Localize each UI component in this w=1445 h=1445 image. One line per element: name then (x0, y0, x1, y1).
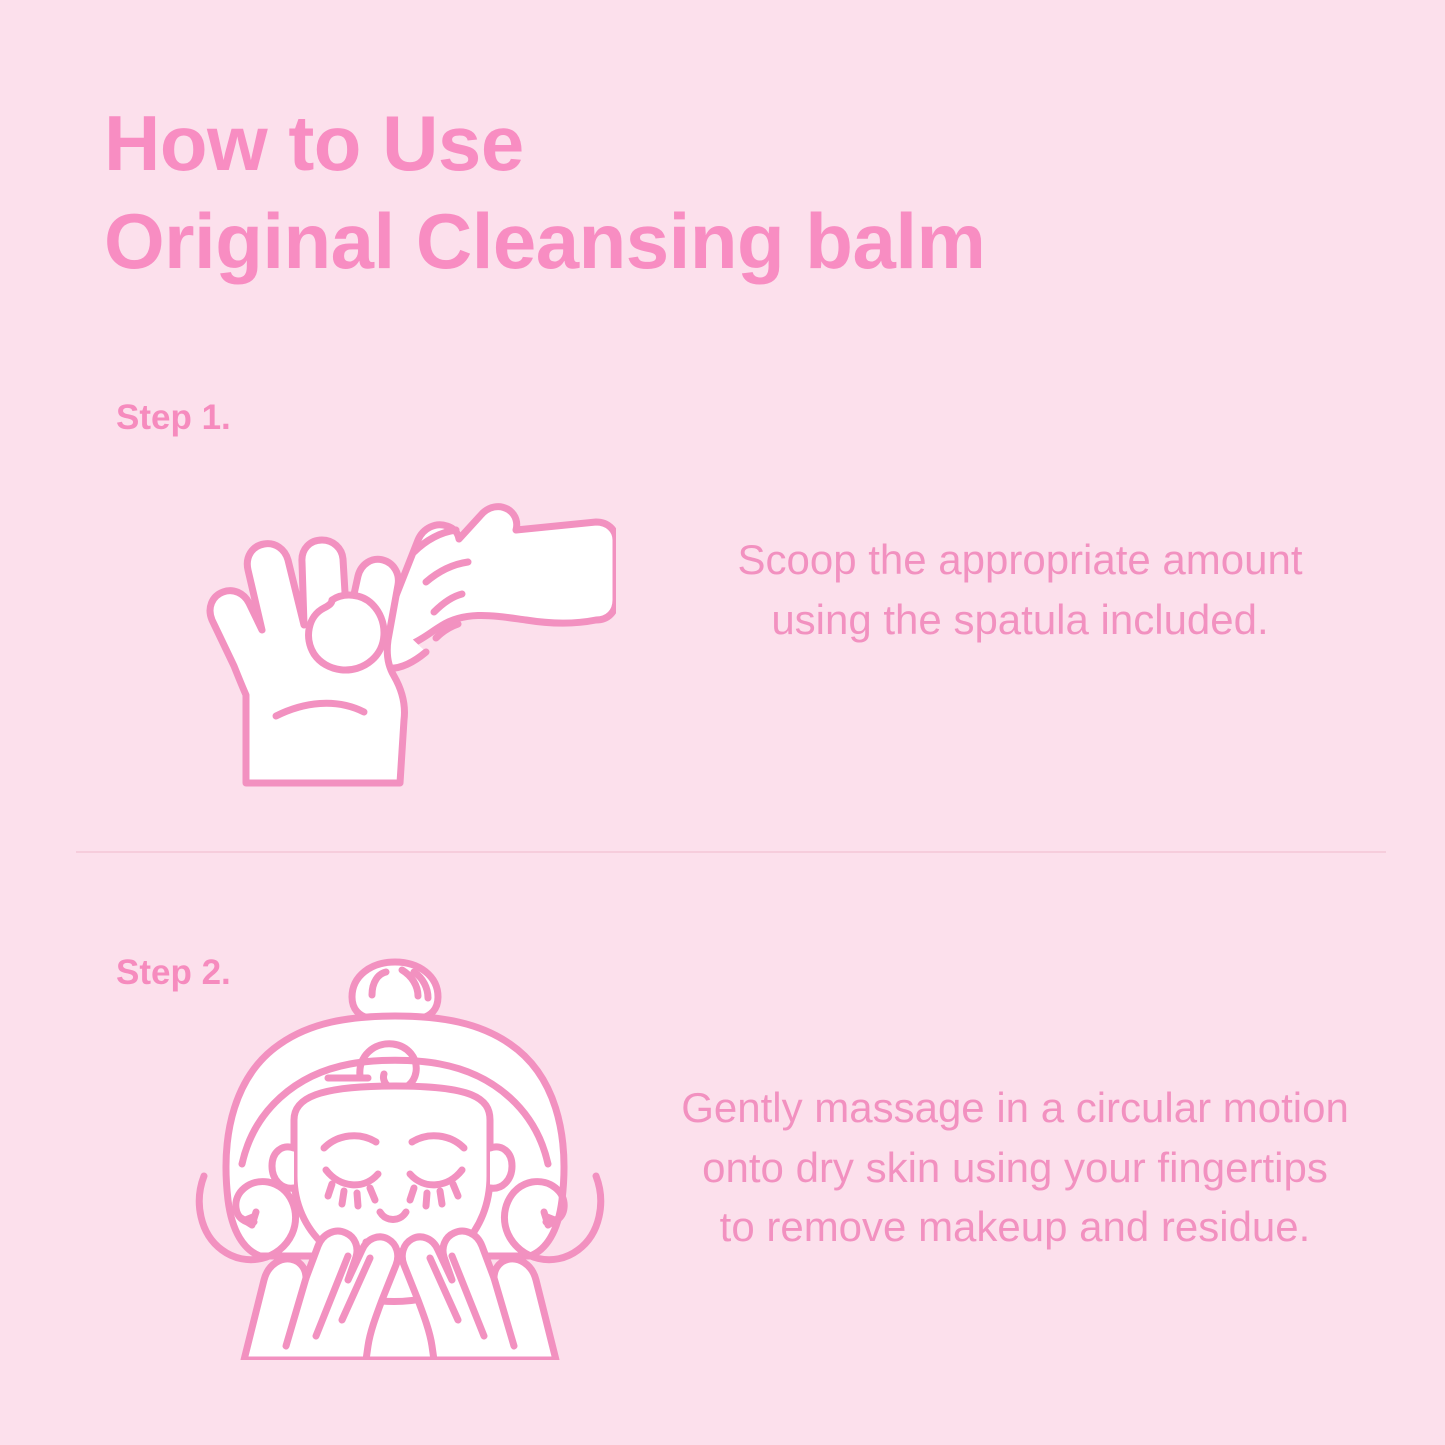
hands-scooping-balm-icon (96, 440, 616, 790)
section-divider (76, 851, 1386, 853)
page-title-line-1: How to Use (104, 95, 1254, 193)
step-1-description: Scoop the appropriate amount using the s… (640, 530, 1400, 649)
step-2-description-line-3: to remove makeup and residue. (620, 1197, 1410, 1257)
step-1-description-line-2: using the spatula included. (640, 590, 1400, 650)
step-1-description-line-1: Scoop the appropriate amount (640, 530, 1400, 590)
step-2-description-line-1: Gently massage in a circular motion (620, 1078, 1410, 1138)
how-to-use-panel: How to Use Original Cleansing balm Step … (0, 0, 1445, 1445)
step-2-description-line-2: onto dry skin using your fingertips (620, 1138, 1410, 1198)
page-title: How to Use Original Cleansing balm (104, 95, 1254, 290)
page-title-line-2: Original Cleansing balm (104, 193, 1254, 291)
step-2-description: Gently massage in a circular motion onto… (620, 1078, 1410, 1257)
woman-massaging-face-icon (190, 950, 610, 1360)
step-1-label: Step 1. (116, 398, 231, 438)
